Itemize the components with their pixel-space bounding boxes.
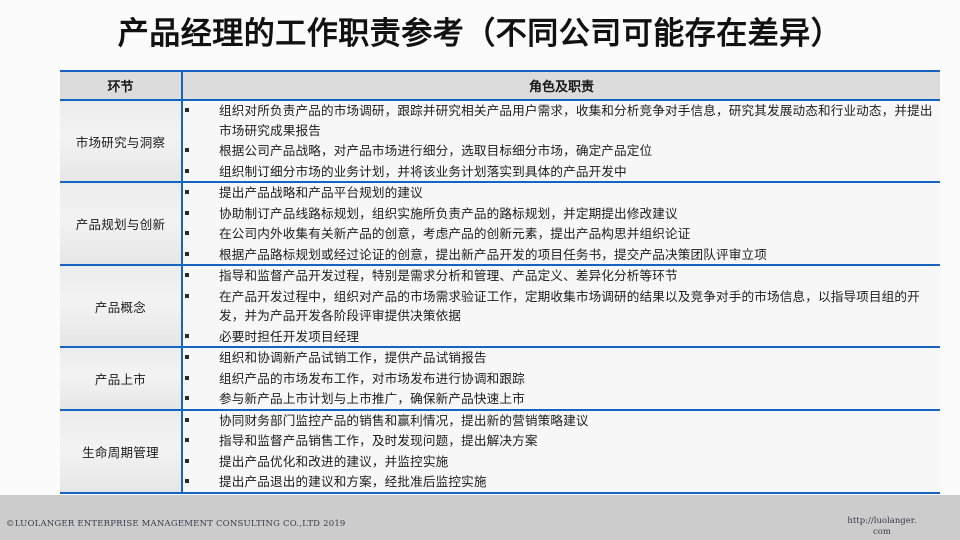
list-item-text: 组织制订细分市场的业务计划，并将该业务计划落实到具体的产品开发中: [219, 164, 627, 179]
responsibilities-table: 环节 角色及职责 市场研究与洞察 组织对所负责产品的市场调研，跟踪并研究相关产品…: [60, 70, 940, 494]
table-body: 市场研究与洞察 组织对所负责产品的市场调研，跟踪并研究相关产品用户需求，收集和分…: [60, 100, 940, 493]
slide-canvas: 产品经理的工作职责参考（不同公司可能存在差异） 环节 角色及职责 市场研究与洞察…: [0, 0, 960, 540]
list-item: 指导和监督产品销售工作，及时发现问题，提出解决方案: [183, 431, 940, 451]
bullet-list: 指导和监督产品开发过程，特别是需求分析和管理、产品定义、差异化分析等环节 在产品…: [183, 266, 940, 346]
table-row: 产品规划与创新 提出产品战略和产品平台规划的建议 协助制订产品线路标规划，组织实…: [60, 182, 940, 265]
list-item: 根据公司产品战略，对产品市场进行细分，选取目标细分市场，确定产品定位: [183, 141, 940, 161]
square-bullet-icon: [185, 376, 189, 380]
list-item: 参与新产品上市计划与上市推广，确保新产品快速上市: [183, 389, 940, 409]
bullet-list: 提出产品战略和产品平台规划的建议 协助制订产品线路标规划，组织实施所负责产品的路…: [183, 183, 940, 264]
list-item-text: 根据公司产品战略，对产品市场进行细分，选取目标细分市场，确定产品定位: [219, 143, 652, 158]
square-bullet-icon: [185, 355, 189, 359]
square-bullet-icon: [185, 438, 189, 442]
column-header-stage: 环节: [60, 71, 182, 100]
list-item-text: 协助制订产品线路标规划，组织实施所负责产品的路标规划，并定期提出修改建议: [219, 206, 678, 221]
table-row: 产品上市 组织和协调新产品试销工作，提供产品试销报告 组织产品的市场发布工作，对…: [60, 347, 940, 410]
list-item: 提出产品退出的建议和方案，经批准后监控实施: [183, 472, 940, 492]
stage-label: 产品规划与创新: [60, 182, 182, 265]
stage-label: 产品概念: [60, 265, 182, 347]
list-item: 组织制订细分市场的业务计划，并将该业务计划落实到具体的产品开发中: [183, 162, 940, 182]
list-item-text: 提出产品战略和产品平台规划的建议: [219, 185, 423, 200]
table-row: 产品概念 指导和监督产品开发过程，特别是需求分析和管理、产品定义、差异化分析等环…: [60, 265, 940, 347]
list-item: 必要时担任开发项目经理: [183, 327, 940, 347]
list-item-text: 提出产品退出的建议和方案，经批准后监控实施: [219, 474, 487, 489]
table-row: 生命周期管理 协同财务部门监控产品的销售和赢利情况，提出新的营销策略建议 指导和…: [60, 410, 940, 493]
stage-label: 市场研究与洞察: [60, 100, 182, 182]
footer-copyright: ©LUOLANGER ENTERPRISE MANAGEMENT CONSULT…: [6, 519, 346, 529]
list-item: 组织和协调新产品试销工作，提供产品试销报告: [183, 348, 940, 368]
page-title: 产品经理的工作职责参考（不同公司可能存在差异）: [0, 14, 960, 54]
list-item: 协同财务部门监控产品的销售和赢利情况，提出新的营销策略建议: [183, 411, 940, 431]
list-item-text: 组织和协调新产品试销工作，提供产品试销报告: [219, 350, 487, 365]
square-bullet-icon: [185, 148, 189, 152]
square-bullet-icon: [185, 108, 189, 112]
responsibility-cell: 组织和协调新产品试销工作，提供产品试销报告 组织产品的市场发布工作，对市场发布进…: [182, 347, 940, 410]
list-item-text: 在公司内外收集有关新产品的创意，考虑产品的创新元素，提出产品构思并组织论证: [219, 226, 691, 241]
list-item-text: 提出产品优化和改进的建议，并监控实施: [219, 454, 448, 469]
responsibility-cell: 协同财务部门监控产品的销售和赢利情况，提出新的营销策略建议 指导和监督产品销售工…: [182, 410, 940, 493]
square-bullet-icon: [185, 418, 189, 422]
list-item: 提出产品战略和产品平台规划的建议: [183, 183, 940, 203]
square-bullet-icon: [185, 252, 189, 256]
list-item: 根据产品路标规划或经过论证的创意，提出新产品开发的项目任务书，提交产品决策团队评…: [183, 245, 940, 265]
footer-url[interactable]: http://luolanger.com: [846, 516, 918, 538]
bullet-list: 组织和协调新产品试销工作，提供产品试销报告 组织产品的市场发布工作，对市场发布进…: [183, 348, 940, 409]
list-item: 在公司内外收集有关新产品的创意，考虑产品的创新元素，提出产品构思并组织论证: [183, 224, 940, 244]
list-item: 在产品开发过程中，组织对产品的市场需求验证工作，定期收集市场调研的结果以及竞争对…: [183, 287, 940, 326]
responsibility-cell: 组织对所负责产品的市场调研，跟踪并研究相关产品用户需求，收集和分析竞争对手信息，…: [182, 100, 940, 182]
list-item-text: 组织对所负责产品的市场调研，跟踪并研究相关产品用户需求，收集和分析竞争对手信息，…: [219, 103, 933, 138]
list-item: 协助制订产品线路标规划，组织实施所负责产品的路标规划，并定期提出修改建议: [183, 204, 940, 224]
square-bullet-icon: [185, 459, 189, 463]
stage-label: 生命周期管理: [60, 410, 182, 493]
square-bullet-icon: [185, 169, 189, 173]
responsibility-cell: 提出产品战略和产品平台规划的建议 协助制订产品线路标规划，组织实施所负责产品的路…: [182, 182, 940, 265]
list-item: 指导和监督产品开发过程，特别是需求分析和管理、产品定义、差异化分析等环节: [183, 266, 940, 286]
square-bullet-icon: [185, 396, 189, 400]
list-item-text: 指导和监督产品开发过程，特别是需求分析和管理、产品定义、差异化分析等环节: [219, 268, 678, 283]
stage-label: 产品上市: [60, 347, 182, 410]
list-item: 组织对所负责产品的市场调研，跟踪并研究相关产品用户需求，收集和分析竞争对手信息，…: [183, 101, 940, 140]
list-item-text: 协同财务部门监控产品的销售和赢利情况，提出新的营销策略建议: [219, 413, 589, 428]
square-bullet-icon: [185, 273, 189, 277]
column-header-responsibility: 角色及职责: [182, 71, 940, 100]
list-item-text: 必要时担任开发项目经理: [219, 329, 359, 344]
list-item: 提出产品优化和改进的建议，并监控实施: [183, 452, 940, 472]
list-item-text: 组织产品的市场发布工作，对市场发布进行协调和跟踪: [219, 371, 525, 386]
square-bullet-icon: [185, 190, 189, 194]
footer-band: [0, 495, 960, 540]
bullet-list: 协同财务部门监控产品的销售和赢利情况，提出新的营销策略建议 指导和监督产品销售工…: [183, 411, 940, 492]
list-item-text: 根据产品路标规划或经过论证的创意，提出新产品开发的项目任务书，提交产品决策团队评…: [219, 247, 767, 262]
list-item-text: 指导和监督产品销售工作，及时发现问题，提出解决方案: [219, 433, 538, 448]
table-row: 市场研究与洞察 组织对所负责产品的市场调研，跟踪并研究相关产品用户需求，收集和分…: [60, 100, 940, 182]
responsibility-cell: 指导和监督产品开发过程，特别是需求分析和管理、产品定义、差异化分析等环节 在产品…: [182, 265, 940, 347]
square-bullet-icon: [185, 294, 189, 298]
list-item: 组织产品的市场发布工作，对市场发布进行协调和跟踪: [183, 369, 940, 389]
square-bullet-icon: [185, 479, 189, 483]
table-header-row: 环节 角色及职责: [60, 71, 940, 100]
list-item-text: 在产品开发过程中，组织对产品的市场需求验证工作，定期收集市场调研的结果以及竞争对…: [219, 289, 920, 324]
list-item-text: 参与新产品上市计划与上市推广，确保新产品快速上市: [219, 391, 525, 406]
square-bullet-icon: [185, 231, 189, 235]
square-bullet-icon: [185, 334, 189, 338]
bullet-list: 组织对所负责产品的市场调研，跟踪并研究相关产品用户需求，收集和分析竞争对手信息，…: [183, 101, 940, 181]
square-bullet-icon: [185, 211, 189, 215]
